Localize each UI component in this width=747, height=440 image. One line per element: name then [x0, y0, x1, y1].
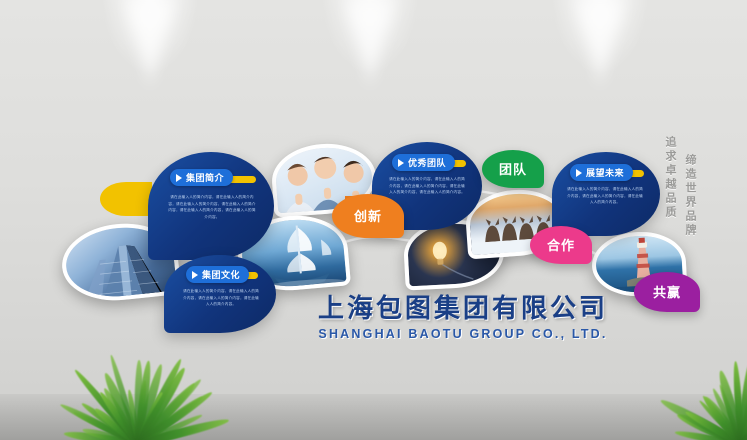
- panel-future-outlook[interactable]: 展望未来 请在此输入人的简介内容，请在此输入人的简介内容，请在此输入人的简介内容…: [552, 152, 660, 236]
- panel-label-text: 优秀团队: [408, 156, 446, 169]
- panel-label-pill-future-outlook[interactable]: 展望未来: [570, 164, 633, 181]
- panel-group-intro[interactable]: 集团简介 请在此输入人的简介内容，请在此输入人的简介内容，请在此输入人的简介内容…: [148, 152, 274, 260]
- panel-label-pill-excellent-team[interactable]: 优秀团队: [392, 154, 455, 171]
- tag-text: 共赢: [653, 282, 681, 301]
- slogan-vertical-2: 缔造世界品牌: [682, 154, 698, 238]
- yellow-accent-shape: [100, 182, 152, 216]
- play-triangle-icon: [192, 271, 198, 279]
- tag-team[interactable]: 团队: [482, 150, 544, 188]
- tag-cooperate[interactable]: 合作: [530, 226, 592, 264]
- company-name-en: SHANGHAI BAOTU GROUP CO., LTD.: [318, 327, 608, 341]
- company-title-block: 上海包图集团有限公司 SHANGHAI BAOTU GROUP CO., LTD…: [318, 288, 608, 341]
- panel-body-text: 请在此输入人的简介内容，请在此输入人的简介内容，请在此输入人的简介内容，请在此输…: [168, 194, 256, 221]
- tag-win-win[interactable]: 共赢: [634, 272, 700, 312]
- tag-text: 创新: [354, 206, 382, 225]
- panel-body-text: 请在此输入人的简介内容，请在此输入人的简介内容，请在此输入人的简介内容，请在此输…: [182, 288, 260, 308]
- panel-group-culture[interactable]: 集团文化 请在此输入人的简介内容，请在此输入人的简介内容，请在此输入人的简介内容…: [164, 255, 276, 333]
- panel-body-text: 请在此输入人的简介内容，请在此输入人的简介内容，请在此输入人的简介内容，请在此输…: [388, 176, 466, 196]
- play-triangle-icon: [176, 174, 182, 182]
- play-triangle-icon: [398, 159, 404, 167]
- wall-scene: 集团简介 请在此输入人的简介内容，请在此输入人的简介内容，请在此输入人的简介内容…: [0, 0, 747, 440]
- panel-body-text: 请在此输入人的简介内容，请在此输入人的简介内容，请在此输入人的简介内容，请在此输…: [567, 186, 643, 206]
- panel-label-text: 集团文化: [202, 268, 240, 281]
- company-name-cn: 上海包图集团有限公司: [318, 288, 608, 325]
- panel-label-text: 展望未来: [586, 166, 624, 179]
- tag-text: 合作: [547, 235, 575, 254]
- panel-label-pill-group-intro[interactable]: 集团简介: [170, 169, 233, 186]
- play-triangle-icon: [576, 169, 582, 177]
- panel-label-pill-group-culture[interactable]: 集团文化: [186, 266, 249, 283]
- tag-text: 团队: [499, 159, 527, 178]
- floor-shadow: [0, 394, 747, 440]
- slogan-vertical-1: 追求卓越品质: [662, 136, 678, 220]
- panel-label-text: 集团简介: [186, 171, 224, 184]
- tag-innovation[interactable]: 创新: [332, 194, 404, 238]
